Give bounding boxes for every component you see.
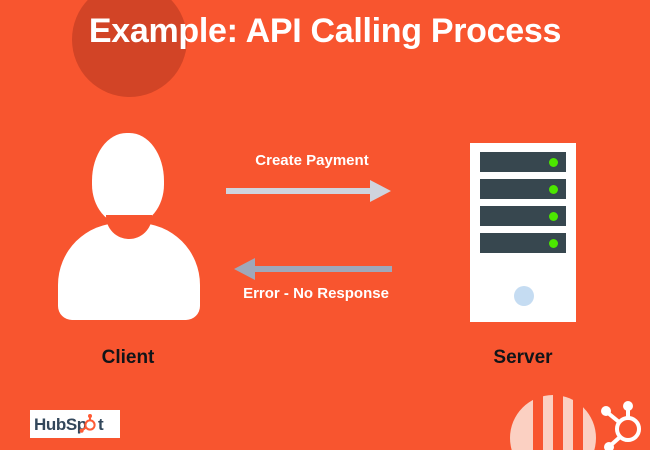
decoration-stripe [573,385,583,450]
hubspot-logo: HubSp t [30,410,120,438]
slide-canvas: Example: API Calling Process Client Serv… [0,0,650,450]
svg-text:t: t [98,415,104,434]
arrow-head [370,180,391,202]
client-label: Client [48,347,208,369]
arrow-shaft [252,266,392,272]
arrow-shaft [226,188,372,194]
server-bay [480,152,566,172]
avatar-head-icon [92,133,164,225]
server-led-icon [549,185,558,194]
arrow-head [234,258,255,280]
server-bay [480,179,566,199]
server-rack-icon [470,143,576,322]
decoration-stripe [533,385,543,450]
server-led-icon [549,212,558,221]
response-arrow-icon [234,258,392,280]
server-led-icon [549,239,558,248]
server-power-button-icon [514,286,534,306]
svg-text:HubSp: HubSp [34,415,87,434]
server-label: Server [443,347,603,369]
server-led-icon [549,158,558,167]
response-flow-label: Error - No Response [226,285,406,302]
corner-decoration [500,385,650,450]
decoration-stripe [553,385,563,450]
client-avatar-icon [50,125,210,320]
page-title: Example: API Calling Process [0,12,650,51]
request-flow-label: Create Payment [226,152,398,169]
hubspot-wordmark-icon: HubSp t [34,414,116,434]
server-bay [480,206,566,226]
hubspot-sprocket-icon [592,395,650,450]
server-bay [480,233,566,253]
request-arrow-icon [226,180,390,202]
